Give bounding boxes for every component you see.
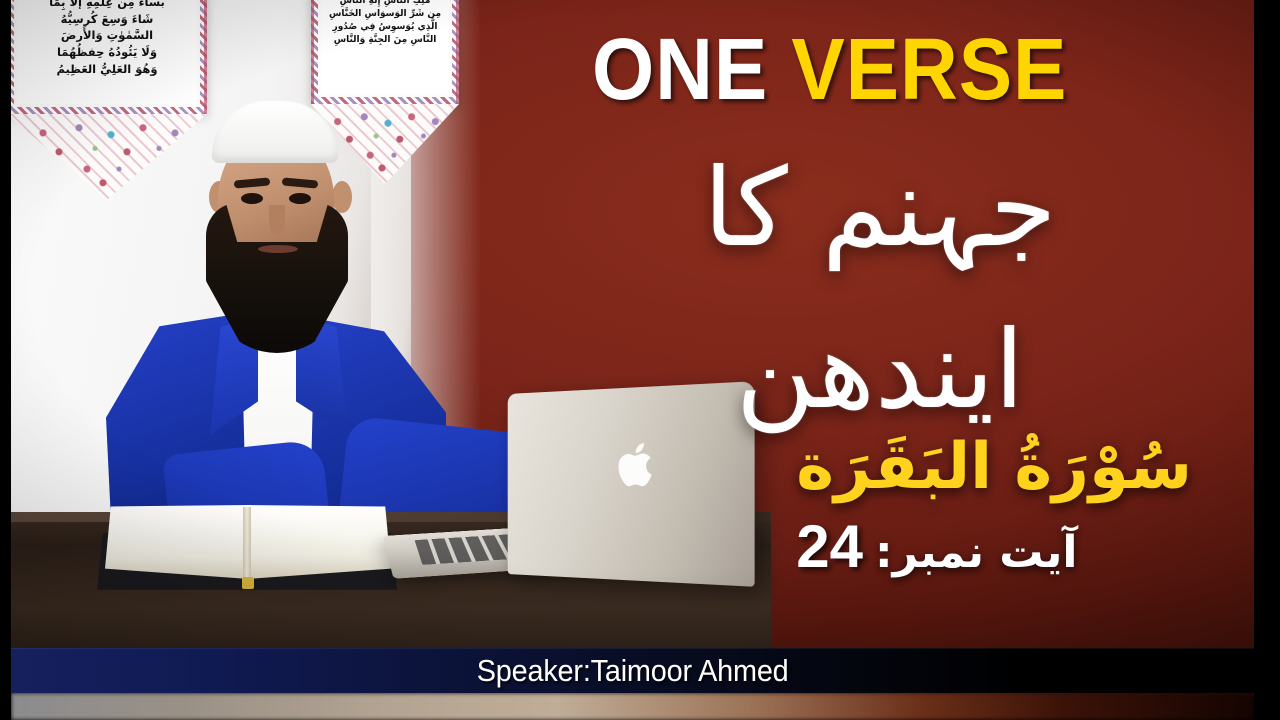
speaker-name-text: Speaker:Taimoor Ahmed [477, 653, 789, 689]
surah-name-text: سُوْرَةُ البَقَرَة [796, 432, 1192, 502]
headline-word-verse: VERSE [791, 21, 1067, 118]
eye-right [289, 193, 311, 204]
book-page-left [105, 505, 249, 579]
ear-right [332, 181, 352, 213]
speaker-bar: Speaker:Taimoor Ahmed [11, 648, 1254, 693]
left-black-border [0, 0, 11, 720]
headline-one-verse: ONE VERSE [592, 26, 1067, 113]
ayat-line: آیت نمبر: 24 [796, 512, 1192, 581]
book-spine [243, 507, 251, 585]
bottom-blurred-strip [11, 693, 1254, 720]
mouth [258, 245, 298, 253]
ayat-number-text: 24 [796, 512, 863, 581]
open-book [97, 505, 397, 605]
ayat-label-text: آیت نمبر: [875, 527, 1077, 578]
right-black-border [1254, 0, 1280, 720]
headline-word-one: ONE [592, 21, 768, 118]
tapestry-border-2 [311, 0, 459, 104]
surah-an-nas-tapestry: قُلْ أَعُوذُ بِرَبِّ النَّاسِ مَلِكِ الن… [311, 0, 459, 104]
urdu-title-text: جہنم کا ایندھن [575, 128, 1185, 452]
book-ribbon [242, 577, 254, 589]
book-page-right [247, 505, 391, 579]
surah-reference-block: سُوْرَةُ البَقَرَة آیت نمبر: 24 [796, 432, 1192, 581]
nose [269, 205, 285, 235]
thumbnail-canvas: بسآءُ مِن عِلمِهِ إلَّا بِمَا شَاءَ وَسِ… [0, 0, 1280, 720]
eye-left [241, 193, 263, 204]
prayer-cap [212, 101, 338, 163]
